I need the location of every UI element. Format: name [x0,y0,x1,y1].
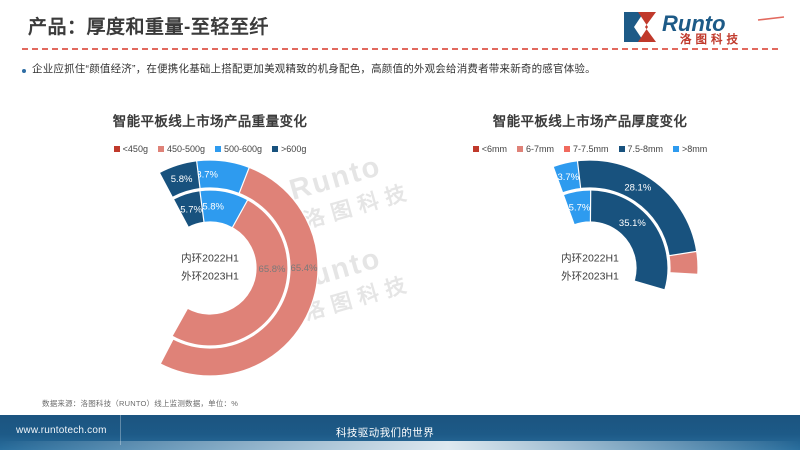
legend-item[interactable]: >600g [272,144,306,154]
legend-item[interactable]: 450-500g [158,144,205,154]
legend-item[interactable]: 7-7.5mm [564,144,609,154]
svg-text:Runto: Runto [662,11,726,36]
bullet-dot-icon [22,69,26,73]
legend-label: >8mm [682,144,707,154]
chart-title-thickness: 智能平板线上市场产品厚度变化 [400,104,780,130]
donut-slice-label: 5.7% [569,202,591,213]
donut-slice-label: 3.7% [557,172,579,183]
thickness-chart-panel: 智能平板线上市场产品厚度变化 <6mm6-7mm7-7.5mm7.5-8mm>8… [400,104,780,384]
legend-label: >600g [281,144,306,154]
legend-swatch-icon [517,146,523,152]
slide-canvas: 产品：厚度和重量-至轻至纤 Runto 洛图科技 企业应抓住“颜值经济”，在便携… [0,0,800,450]
chart-legend-thickness: <6mm6-7mm7-7.5mm7.5-8mm>8mm [400,144,780,154]
weight-chart-panel: 智能平板线上市场产品重量变化 <450g450-500g500-600g>600… [20,104,400,384]
donut-slice-label: 65.4% [291,263,318,274]
legend-item[interactable]: >8mm [673,144,707,154]
donut-weight: 12.6%65.8%15.8%5.7%15.1%65.4%13.7%5.8% 内… [20,158,400,378]
donut-slice-label: 5.7% [180,204,202,215]
header-divider [22,48,778,50]
legend-swatch-icon [272,146,278,152]
legend-swatch-icon [619,146,625,152]
legend-swatch-icon [114,146,120,152]
slide-footer: www.runtotech.com 科技驱动我们的世界 [0,415,800,450]
footer-website-link[interactable]: www.runtotech.com [16,425,107,436]
legend-label: <6mm [482,144,507,154]
legend-swatch-icon [158,146,164,152]
legend-item[interactable]: 500-600g [215,144,262,154]
runto-logo: Runto 洛图科技 [618,8,786,46]
footer-slogan: 科技驱动我们的世界 [336,425,434,440]
legend-label: 6-7mm [526,144,554,154]
legend-item[interactable]: 6-7mm [517,144,554,154]
bullet-row: 企业应抓住“颜值经济”，在便携化基础上搭配更加美观精致的机身配色，高颜值的外观会… [22,62,782,78]
data-source-note: 数据来源：洛图科技（RUNTO）线上监测数据，单位：% [42,398,238,409]
donut-slice-label: 35.1% [619,218,646,229]
chart-legend-weight: <450g450-500g500-600g>600g [20,144,400,154]
donut-slice-label: 5.8% [171,174,193,185]
legend-swatch-icon [473,146,479,152]
page-title: 产品：厚度和重量-至轻至纤 [28,12,269,39]
legend-label: 450-500g [167,144,205,154]
legend-label: <450g [123,144,148,154]
legend-swatch-icon [673,146,679,152]
svg-text:洛图科技: 洛图科技 [680,32,742,46]
donut-slice-label: 65.8% [259,264,286,275]
legend-item[interactable]: <450g [114,144,148,154]
legend-label: 7-7.5mm [573,144,609,154]
legend-item[interactable]: 7.5-8mm [619,144,664,154]
legend-swatch-icon [564,146,570,152]
legend-swatch-icon [215,146,221,152]
legend-item[interactable]: <6mm [473,144,507,154]
donut-slice-label: 28.1% [624,183,651,194]
slide-header: 产品：厚度和重量-至轻至纤 Runto 洛图科技 [0,0,800,52]
footer-sheen [0,441,800,450]
logo-mark-icon [624,12,656,42]
donut-thickness: 10.0%27.4%21.8%35.1%5.7%10.7%31.5%26.0%2… [400,158,780,378]
legend-label: 7.5-8mm [628,144,664,154]
chart-title-weight: 智能平板线上市场产品重量变化 [20,104,400,130]
legend-label: 500-600g [224,144,262,154]
bullet-text: 企业应抓住“颜值经济”，在便携化基础上搭配更加美观精致的机身配色，高颜值的外观会… [32,62,596,78]
